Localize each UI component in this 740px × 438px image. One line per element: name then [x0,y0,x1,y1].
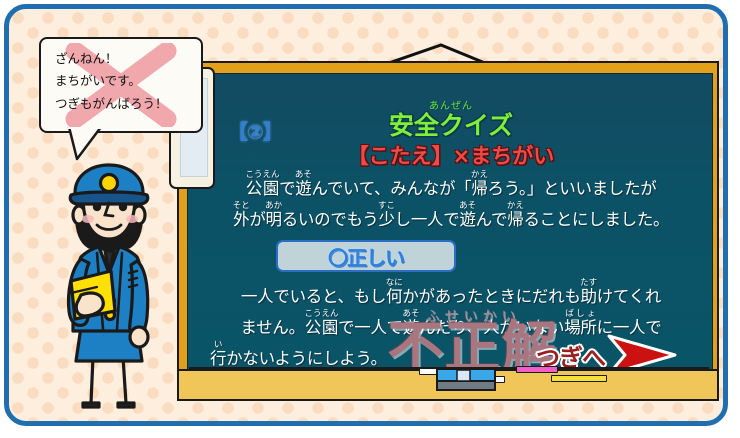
chalk-white-1 [419,368,471,375]
correct-answer-pill: 〇正しい [276,240,456,272]
explanation-line-1: 一人でいると、もし何なにかがあったときにだれも助たすけてくれ [188,278,713,305]
chalkboard-surface: 【②】 あんぜん 安全クイズ 【こたえ】×まちがい 公園こうえんで遊あそんでいて… [187,73,713,373]
chalkboard: 【②】 あんぜん 安全クイズ 【こたえ】×まちがい 公園こうえんで遊あそんでいて… [177,61,719,401]
quiz-title: 安全クイズ [188,113,713,139]
board-content: 【②】 あんぜん 安全クイズ 【こたえ】×まちがい 公園こうえんで遊あそんでいて… [188,74,712,372]
chalk-pink [516,366,558,373]
speech-line-2: まちがいです。 [55,70,201,92]
quiz-screen: 【②】 あんぜん 安全クイズ 【こたえ】×まちがい 公園こうえんで遊あそんでいて… [0,0,740,438]
chalk-yellow [551,375,607,382]
speech-bubble-text: ざんねん！ まちがいです。 つぎもがんばろう！ [41,39,201,115]
question-line-2: 外そとが明あかるいのでもう少すこし一人で遊あそんで帰かえることにしました。 [188,201,713,228]
speech-bubble: ざんねん！ まちがいです。 つぎもがんばろう！ [39,37,203,133]
answer-result-text: 【こたえ】×まちがい [188,140,713,170]
question-text: 公園こうえんで遊あそんでいて、みんなが「帰かえろう。」といいましたが 外そとが明… [188,170,713,228]
speech-line-1: ざんねん！ [55,48,201,70]
chalk-white-2 [447,376,505,383]
speech-bubble-tail [67,127,107,161]
question-line-1: 公園こうえんで遊あそんでいて、みんなが「帰かえろう。」といいましたが [188,170,713,197]
quiz-title-block: あんぜん 安全クイズ [188,102,713,139]
app-frame: 【②】 あんぜん 安全クイズ 【こたえ】×まちがい 公園こうえんで遊あそんでいて… [4,4,728,426]
board-hanging-string [389,21,689,63]
police-officer-character [37,161,185,409]
speech-line-3: つぎもがんばろう！ [55,93,201,115]
correct-answer-label: 〇正しい [328,242,404,271]
